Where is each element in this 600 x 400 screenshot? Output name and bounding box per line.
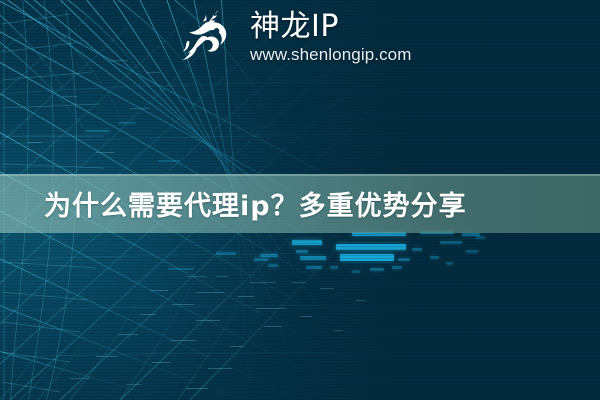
brand-name: 神龙IP	[250, 11, 412, 43]
title-band-top-edge	[0, 174, 600, 176]
promo-banner: 神龙IP www.shenlongip.com 为什么需要代理ip？多重优势分享	[0, 0, 600, 400]
brand-logo[interactable]: 神龙IP www.shenlongip.com	[178, 6, 412, 68]
brand-url: www.shenlongip.com	[250, 45, 412, 65]
page-title: 为什么需要代理ip？多重优势分享	[44, 184, 467, 223]
dragon-head-icon	[178, 6, 240, 68]
title-band: 为什么需要代理ip？多重优势分享	[0, 174, 600, 233]
